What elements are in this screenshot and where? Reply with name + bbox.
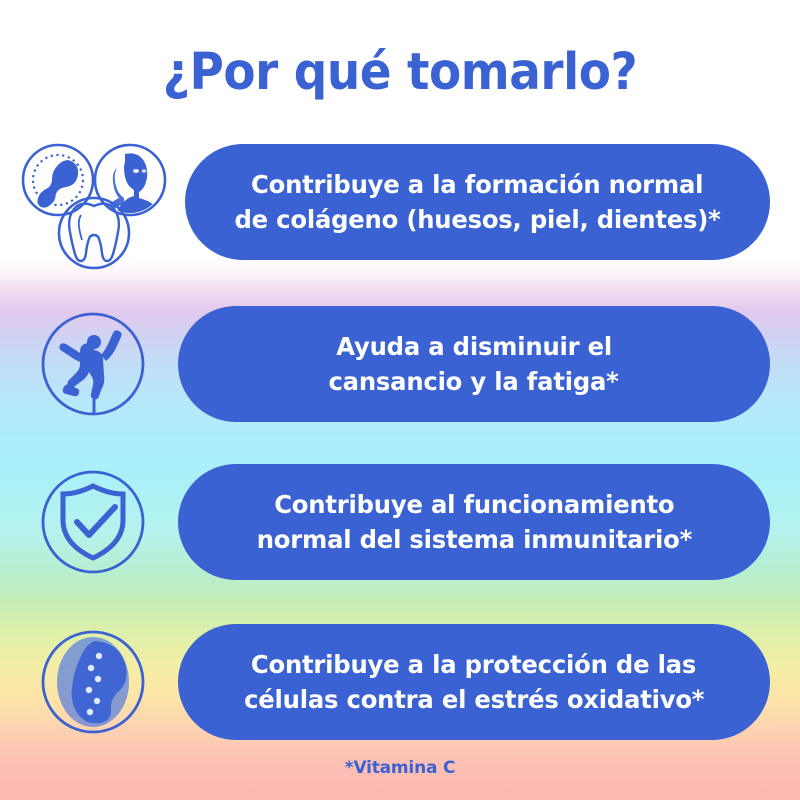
page-title: ¿Por qué tomarlo? xyxy=(32,46,768,100)
benefit-text-line: normal del sistema inmunitario* xyxy=(256,522,691,558)
benefit-pill-collagen[interactable]: Contribuye a la formación normal de colá… xyxy=(185,144,770,260)
benefit-pill-fatigue[interactable]: Ayuda a disminuir el cansancio y la fati… xyxy=(178,306,770,422)
benefit-row-collagen: Contribuye a la formación normal de colá… xyxy=(0,138,800,266)
icon-cluster-collagen xyxy=(0,138,185,266)
benefit-text-line: de colágeno (huesos, piel, dientes)* xyxy=(234,202,720,238)
icon-cluster-fatigue xyxy=(0,300,185,428)
benefit-pill-oxidative[interactable]: Contribuye a la protección de las célula… xyxy=(178,624,770,740)
benefit-text-line: Contribuye a la formación normal xyxy=(251,167,703,203)
skin-face-icon xyxy=(95,145,165,231)
benefit-text-line: cansancio y la fatiga* xyxy=(329,364,619,400)
shield-check-icon xyxy=(43,472,143,572)
benefit-text-line: Ayuda a disminuir el xyxy=(336,329,612,365)
benefit-text-line: Contribuye al funcionamiento xyxy=(274,487,674,523)
icon-cluster-immune xyxy=(0,458,185,586)
benefit-row-oxidative: Contribuye a la protección de las célula… xyxy=(0,618,800,746)
tooth-icon xyxy=(59,198,129,268)
footnote-vitamin-c: *Vitamina C xyxy=(0,758,800,778)
benefit-text-line: Contribuye a la protección de las xyxy=(251,647,696,683)
benefit-pill-immune[interactable]: Contribuye al funcionamiento normal del … xyxy=(178,464,770,580)
infographic-canvas: ¿Por qué tomarlo? xyxy=(0,0,800,800)
icon-cluster-oxidative xyxy=(0,618,185,746)
jumping-person-icon xyxy=(43,314,143,414)
benefit-row-fatigue: Ayuda a disminuir el cansancio y la fati… xyxy=(0,300,800,428)
benefit-row-immune: Contribuye al funcionamiento normal del … xyxy=(0,458,800,586)
cell-icon xyxy=(43,632,143,732)
benefit-text-line: células contra el estrés oxidativo* xyxy=(244,682,704,718)
